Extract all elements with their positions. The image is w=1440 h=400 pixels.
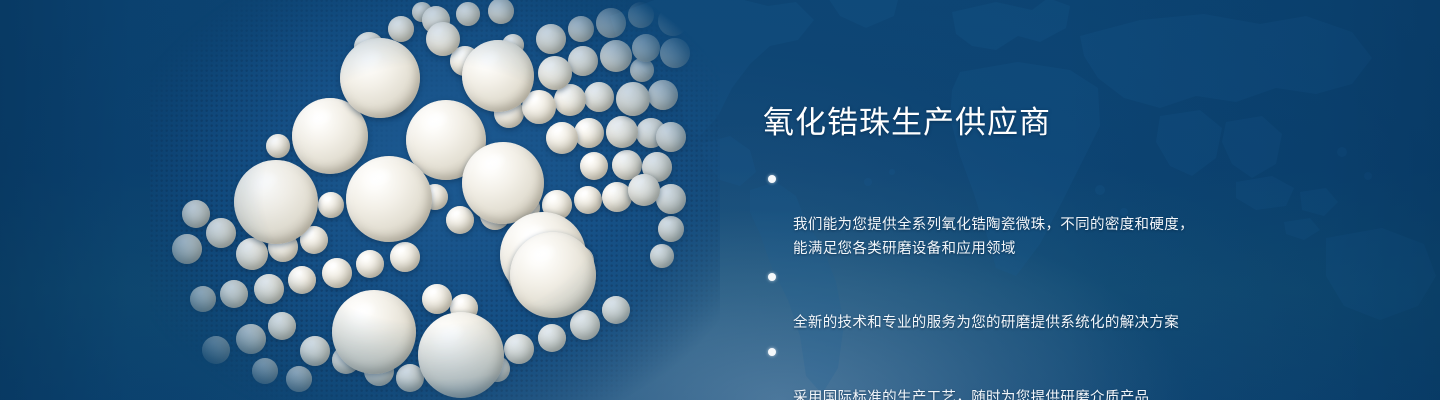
hero-banner: 氧化锆珠生产供应商 我们能为您提供全系列氧化锆陶瓷微珠，不同的密度和硬度， 能满… bbox=[0, 0, 1440, 400]
page-title: 氧化锆珠生产供应商 bbox=[763, 104, 1323, 142]
bullet-dot-icon bbox=[768, 175, 776, 183]
bullet-dot-icon bbox=[768, 348, 776, 356]
list-item-text: 全新的技术和专业的服务为您的研磨提供系统化的解决方案 bbox=[793, 315, 1179, 331]
feature-list: 我们能为您提供全系列氧化锆陶瓷微珠，不同的密度和硬度， 能满足您各类研磨设备和应… bbox=[763, 167, 1323, 400]
list-item: 采用国际标准的生产工艺，随时为您提供研磨介质产品 bbox=[763, 340, 1323, 400]
list-item: 我们能为您提供全系列氧化锆陶瓷微珠，不同的密度和硬度， 能满足您各类研磨设备和应… bbox=[763, 167, 1323, 261]
list-item-text: 采用国际标准的生产工艺，随时为您提供研磨介质产品 bbox=[793, 390, 1149, 400]
list-item-text: 我们能为您提供全系列氧化锆陶瓷微珠，不同的密度和硬度， 能满足您各类研磨设备和应… bbox=[793, 217, 1194, 257]
list-item: 全新的技术和专业的服务为您的研磨提供系统化的解决方案 bbox=[763, 265, 1323, 336]
banner-copy: 氧化锆珠生产供应商 我们能为您提供全系列氧化锆陶瓷微珠，不同的密度和硬度， 能满… bbox=[763, 104, 1323, 400]
bullet-dot-icon bbox=[768, 273, 776, 281]
